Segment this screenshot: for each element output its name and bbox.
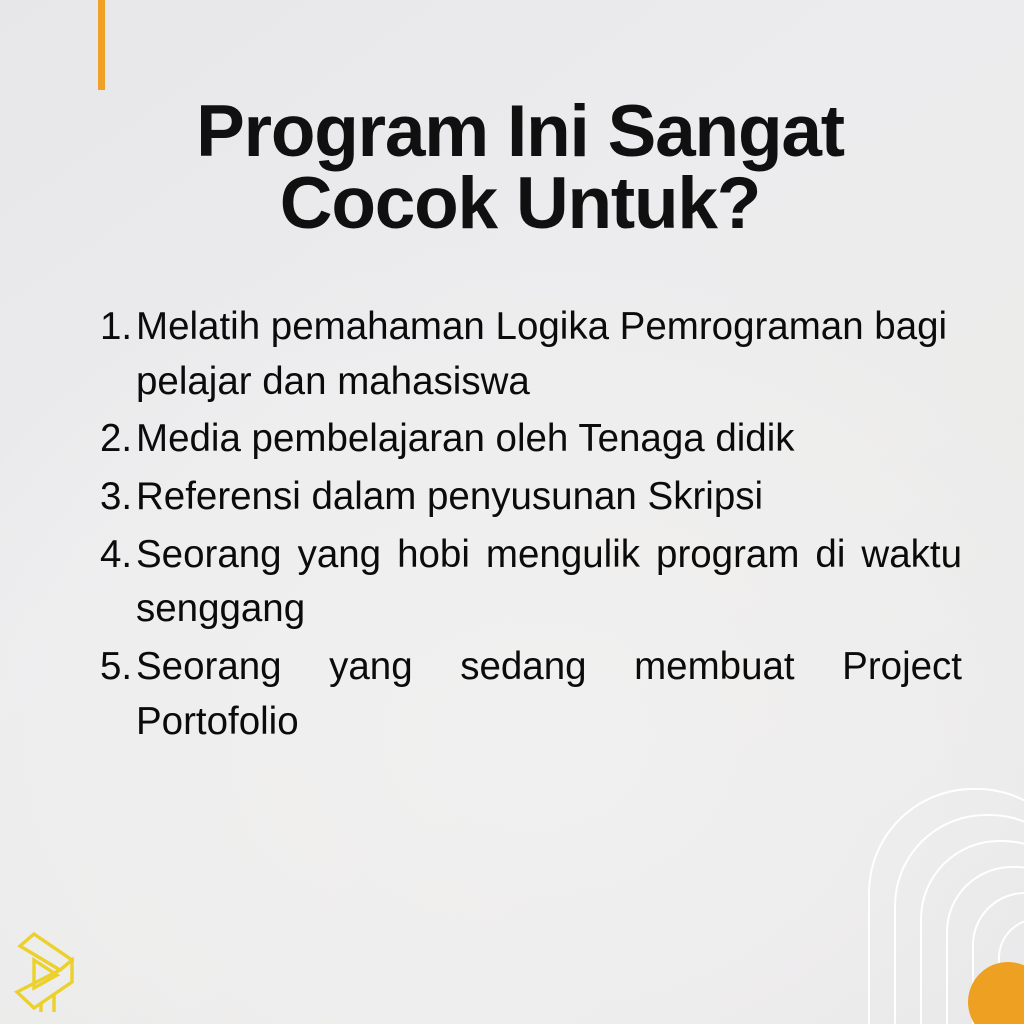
brand-logo-icon bbox=[12, 930, 80, 1012]
list-item-text: Media pembelajaran oleh Tenaga didik bbox=[136, 412, 962, 467]
list-item-number: 3. bbox=[100, 470, 136, 525]
slide-canvas: Program Ini Sangat Cocok Untuk? 1. Melat… bbox=[0, 0, 1024, 1024]
title-line-1: Program Ini Sangat bbox=[120, 96, 920, 168]
list-item-text: Seorang yang hobi mengulik program di wa… bbox=[136, 528, 962, 637]
list-item-number: 2. bbox=[100, 412, 136, 467]
list-item-number: 5. bbox=[100, 640, 136, 695]
list-item: 2. Media pembelajaran oleh Tenaga didik bbox=[100, 412, 962, 467]
list-item: 3. Referensi dalam penyusunan Skripsi bbox=[100, 470, 962, 525]
orange-circle-decoration bbox=[968, 962, 1024, 1024]
list-item-text: Melatih pemahaman Logika Pemrograman bag… bbox=[136, 300, 962, 409]
list-item-number: 1. bbox=[100, 300, 136, 355]
title-line-2: Cocok Untuk? bbox=[120, 168, 920, 240]
list-item-number: 4. bbox=[100, 528, 136, 583]
yellow-accent-bar bbox=[98, 0, 105, 90]
list-item-text: Referensi dalam penyusunan Skripsi bbox=[136, 470, 962, 525]
list-item-text: Seorang yang sedang membuat Project Port… bbox=[136, 640, 962, 749]
slide-title: Program Ini Sangat Cocok Untuk? bbox=[120, 96, 920, 241]
benefits-list: 1. Melatih pemahaman Logika Pemrograman … bbox=[100, 300, 962, 752]
list-item: 4. Seorang yang hobi mengulik program di… bbox=[100, 528, 962, 637]
list-item: 1. Melatih pemahaman Logika Pemrograman … bbox=[100, 300, 962, 409]
list-item: 5. Seorang yang sedang membuat Project P… bbox=[100, 640, 962, 749]
